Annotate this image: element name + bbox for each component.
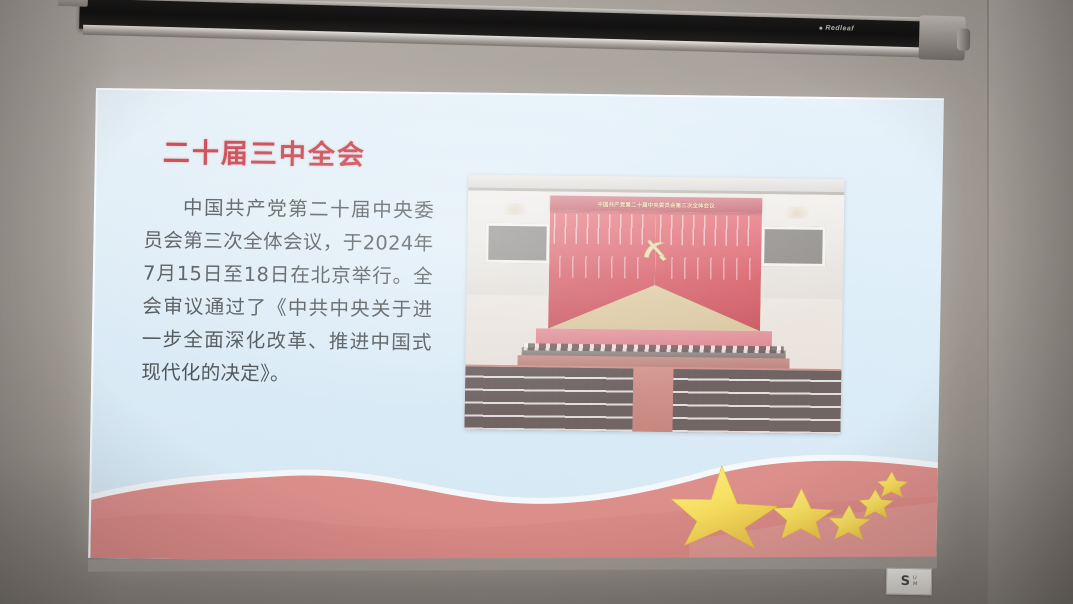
conference-photo: 中国共产党第二十届中央委员会第三次全体会议 (464, 175, 844, 435)
sticker-line-2: M (913, 582, 917, 587)
photo-conference-banner: 中国共产党第二十届中央委员会第三次全体会议 (550, 196, 762, 214)
photo-delegate-seats-right (672, 369, 841, 434)
star-small-3 (859, 489, 893, 517)
photo-flag-pleats-lower-right (671, 257, 751, 280)
screen-pull-knob[interactable] (957, 28, 971, 50)
sticker-sublines: U M (913, 576, 918, 587)
photo-wall-panel-right (761, 226, 826, 267)
photo-wall-panel-left (485, 223, 550, 264)
five-star-flag-motif (668, 459, 909, 552)
slide-title: 二十届三中全会 (163, 131, 367, 172)
photo-flag-pleats-lower-left (559, 256, 639, 279)
brand-dot-icon (819, 26, 822, 29)
screen-brand-label: Redleaf (819, 25, 854, 33)
photo-center-aisle (632, 367, 673, 432)
star-small-1 (773, 488, 834, 539)
screen-mount-bracket-left (58, 0, 88, 7)
photo-delegate-seats-left (464, 367, 633, 432)
photo-banner-text: 中国共产党第二十届中央委员会第三次全体会议 (597, 200, 715, 209)
projected-slide: 二十届三中全会 中国共产党第二十届中央委员会第三次全体会议，于2024年7月15… (88, 88, 944, 568)
slide-canvas: 二十届三中全会 中国共产党第二十届中央委员会第三次全体会议，于2024年7月15… (88, 88, 944, 568)
sticker-logo-mark: S (901, 575, 911, 588)
wall-label-sticker: S U M (886, 568, 932, 596)
hammer-and-sickle-icon (637, 235, 674, 267)
star-small-4 (877, 472, 907, 497)
slide-body-text: 中国共产党第二十届中央委员会第三次全体会议，于2024年7月15日至18日在北京… (141, 191, 434, 393)
photo-wall-motif-right (780, 206, 814, 218)
photo-wall-motif-left (498, 203, 532, 215)
classroom-scene: Redleaf 二十届三中全会 中国共产党第二十届中央委员会第三次全体会议，于2… (0, 0, 1073, 604)
star-large (670, 465, 777, 548)
star-small-2 (829, 505, 871, 539)
photo-flag-pleats-right (659, 215, 757, 246)
wall-corner-panel (989, 0, 1073, 604)
